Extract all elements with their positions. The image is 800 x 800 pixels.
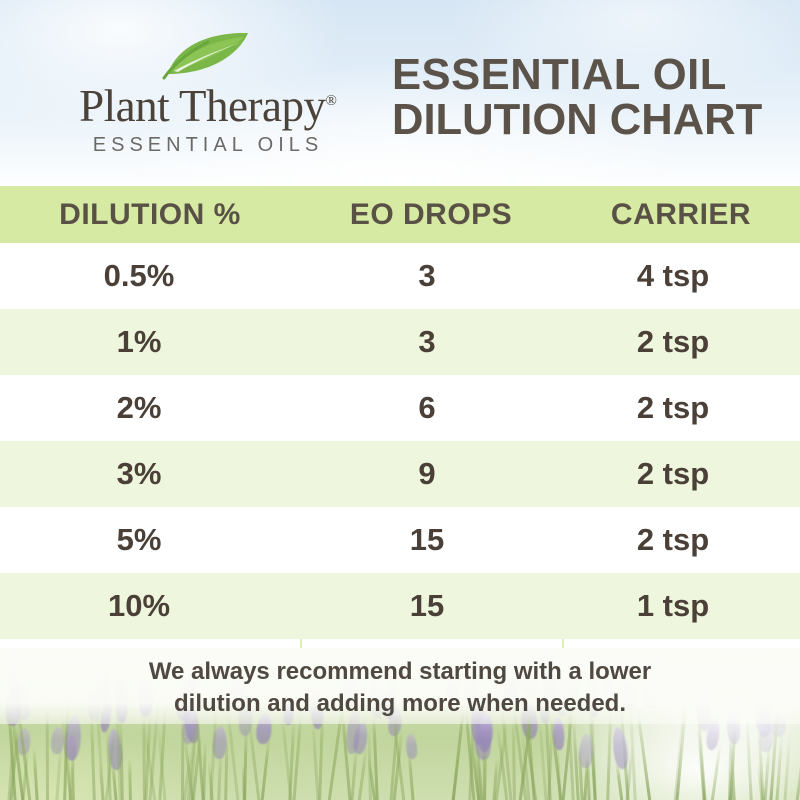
column-header-carrier: CARRIER: [562, 186, 800, 243]
lavender-bud: [405, 733, 418, 759]
cell-dilution: 1%: [0, 309, 300, 375]
lavender-stem: [89, 712, 95, 800]
table-row: 5% 15 2 tsp: [0, 507, 800, 573]
cell-dilution: 5%: [0, 507, 300, 573]
lavender-stem: [224, 735, 229, 800]
lavender-stem: [243, 728, 248, 800]
cell-drops: 15: [300, 507, 562, 573]
cell-dilution: 3%: [0, 441, 300, 507]
lavender-stem: [451, 750, 460, 800]
lavender-stem: [55, 746, 62, 800]
lavender-stem: [368, 728, 372, 800]
lavender-stem: [33, 748, 40, 800]
table-row: 1% 3 2 tsp: [0, 309, 800, 375]
footer-caption: We always recommend starting with a lowe…: [0, 648, 800, 720]
lavender-stem: [181, 713, 184, 800]
cell-drops: 9: [300, 441, 562, 507]
lavender-stem: [795, 738, 800, 800]
cell-dilution: 10%: [0, 573, 300, 639]
cell-drops: 3: [300, 309, 562, 375]
cell-carrier: 2 tsp: [562, 441, 800, 507]
brand-tagline: ESSENTIAL OILS: [58, 134, 358, 157]
lavender-stem: [357, 746, 368, 800]
table-body: 0.5% 3 4 tsp 1% 3 2 tsp 2% 6 2 tsp 3% 9 …: [0, 243, 800, 639]
footer-caption-line1: We always recommend starting with a lowe…: [70, 656, 730, 688]
table-row: 0.5% 3 4 tsp: [0, 243, 800, 309]
table-row: 3% 9 2 tsp: [0, 441, 800, 507]
cell-carrier: 4 tsp: [562, 243, 800, 309]
cell-drops: 6: [300, 375, 562, 441]
table-row: 2% 6 2 tsp: [0, 375, 800, 441]
brand-logo: Plant Therapy® ESSENTIAL OILS: [58, 28, 358, 148]
cell-carrier: 2 tsp: [562, 375, 800, 441]
cell-dilution: 2%: [0, 375, 300, 441]
lavender-bud: [611, 726, 630, 769]
lavender-stem: [483, 744, 487, 800]
page-title-line1: ESSENTIAL OIL: [392, 52, 760, 97]
footer-caption-line2: dilution and adding more when needed.: [70, 688, 730, 720]
dilution-table: DILUTION % EO DROPS CARRIER 0.5% 3 4 tsp…: [0, 186, 800, 648]
cell-carrier: 1 tsp: [562, 573, 800, 639]
header-banner: Plant Therapy® ESSENTIAL OILS ESSENTIAL …: [0, 0, 800, 186]
table-header-row: DILUTION % EO DROPS CARRIER: [0, 186, 800, 243]
lavender-stem: [260, 736, 271, 800]
column-header-dilution: DILUTION %: [0, 186, 300, 243]
brand-name-text: Plant Therapy: [79, 81, 325, 131]
cell-dilution: 0.5%: [0, 243, 300, 309]
lavender-stem: [783, 731, 791, 800]
cell-carrier: 2 tsp: [562, 507, 800, 573]
brand-name: Plant Therapy®: [58, 72, 358, 135]
cell-carrier: 2 tsp: [562, 309, 800, 375]
lavender-stem: [128, 759, 132, 800]
column-header-eo-drops: EO DROPS: [300, 186, 562, 243]
table-row: 10% 15 1 tsp: [0, 573, 800, 639]
lavender-stem: [555, 743, 561, 800]
lavender-stem: [710, 743, 722, 800]
cell-drops: 3: [300, 243, 562, 309]
page-title-line2: DILUTION CHART: [392, 97, 760, 142]
lavender-stem: [350, 746, 358, 800]
lavender-stem: [119, 715, 124, 800]
cell-drops: 15: [300, 573, 562, 639]
page-title: ESSENTIAL OIL DILUTION CHART: [392, 52, 764, 142]
registered-mark: ®: [325, 93, 336, 109]
dilution-chart-page: Plant Therapy® ESSENTIAL OILS ESSENTIAL …: [0, 0, 800, 800]
